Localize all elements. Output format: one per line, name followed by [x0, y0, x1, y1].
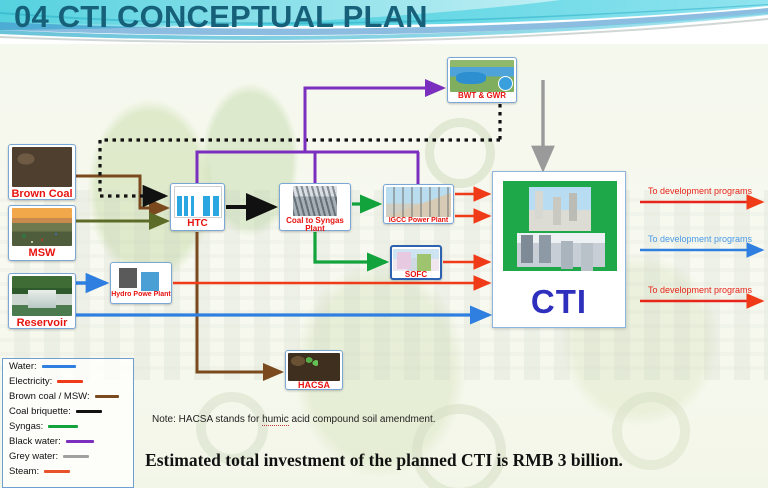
bwt-gwr-image	[450, 60, 514, 92]
legend-item-syngas: Syngas:	[3, 419, 133, 434]
node-hacsa[interactable]: HACSA	[285, 350, 343, 390]
note-text: Note: HACSA stands for humic acid compou…	[152, 414, 436, 425]
node-label: BWT & GWR	[448, 92, 516, 100]
node-label: HTC	[171, 218, 224, 230]
slide-canvas: 04 CTI CONCEPTUAL PLAN	[0, 0, 768, 488]
legend-label: Water:	[9, 361, 37, 372]
legend-swatch-electricity	[57, 380, 83, 383]
node-label: SOFC	[392, 271, 440, 279]
node-reservoir[interactable]: Reservoir	[8, 273, 76, 329]
node-msw[interactable]: MSW	[8, 205, 76, 261]
hydro-plant-image	[115, 265, 167, 291]
legend-swatch-coal-briquette	[76, 410, 102, 413]
legend-item-water: Water:	[3, 359, 133, 374]
legend-label: Electricity:	[9, 376, 52, 387]
node-label: Brown Coal	[9, 187, 75, 204]
legend-label: Brown coal / MSW:	[9, 391, 90, 402]
cti-image-panel	[503, 181, 617, 271]
note-underlined-word: humic	[262, 414, 289, 426]
legend-label: Syngas:	[9, 421, 43, 432]
legend-item-brown-coal-msw: Brown coal / MSW:	[3, 389, 133, 404]
reservoir-image	[12, 276, 72, 316]
node-htc[interactable]: HTC	[170, 183, 225, 231]
cti-facility-image	[517, 233, 605, 267]
node-sofc[interactable]: SOFC	[390, 245, 442, 280]
legend-swatch-syngas	[48, 425, 78, 428]
cti-plant-image	[529, 187, 591, 231]
node-brown-coal[interactable]: Brown Coal	[8, 144, 76, 200]
node-cti[interactable]: CTI	[492, 171, 626, 328]
note-suffix: acid compound soil amendment.	[289, 414, 436, 425]
legend-swatch-water	[42, 365, 76, 368]
legend-label: Black water:	[9, 436, 61, 447]
node-label: HACSA	[286, 381, 342, 390]
legend-item-electricity: Electricity:	[3, 374, 133, 389]
htc-image	[174, 186, 222, 218]
node-coal-to-syngas-plant[interactable]: Coal to Syngas Plant	[279, 183, 351, 231]
legend-label: Coal briquette:	[9, 406, 71, 417]
legend-item-coal-briquette: Coal briquette:	[3, 404, 133, 419]
investment-caption: Estimated total investment of the planne…	[0, 450, 768, 471]
hacsa-image	[288, 353, 340, 381]
igcc-image	[386, 187, 451, 217]
output-label-water: To development programs	[648, 234, 752, 244]
node-label: MSW	[9, 246, 75, 263]
sofc-image	[393, 249, 439, 271]
node-hydro-power-plant[interactable]: Hydro Powe Plant	[110, 262, 172, 304]
syngas-plant-image	[293, 186, 337, 216]
node-igcc-power-plant[interactable]: IGCC Power Plant	[383, 184, 454, 224]
output-label-electricity: To development programs	[648, 186, 752, 196]
node-label: Hydro Powe Plant	[111, 291, 171, 298]
brown-coal-image	[12, 147, 72, 187]
msw-image	[12, 208, 72, 246]
cti-label: CTI	[493, 283, 625, 321]
recycle-icon	[498, 76, 513, 91]
note-prefix: Note: HACSA stands for	[152, 414, 262, 425]
node-label: IGCC Power Plant	[384, 217, 453, 224]
legend-swatch-brown-coal	[95, 395, 119, 398]
node-bwt-gwr[interactable]: BWT & GWR	[447, 57, 517, 103]
output-label-steam: To development programs	[648, 285, 752, 295]
legend-swatch-black-water	[66, 440, 94, 443]
legend-item-black-water: Black water:	[3, 434, 133, 449]
node-label: Reservoir	[9, 316, 75, 333]
page-title: 04 CTI CONCEPTUAL PLAN	[14, 0, 428, 35]
node-label: Coal to Syngas Plant	[280, 216, 350, 234]
